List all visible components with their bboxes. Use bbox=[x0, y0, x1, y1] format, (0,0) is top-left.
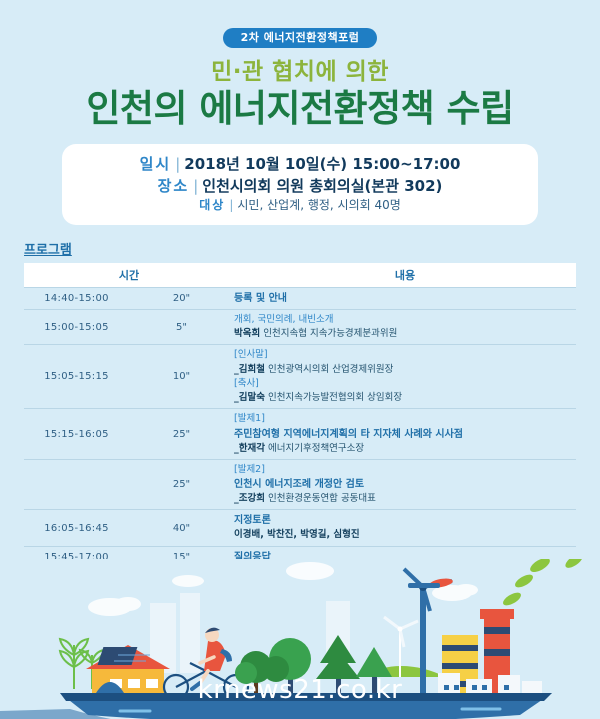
program-col-time: 시간 bbox=[24, 263, 234, 288]
speaker-affiliation: 에너지기후정책연구소장 bbox=[265, 443, 364, 454]
poster-title: 인천의 에너지전환정책 수립 bbox=[0, 89, 600, 130]
program-line-speaker: _김말숙 인천지속가능발전협의회 상임회장 bbox=[234, 391, 576, 405]
program-table: 시간 내용 14:40-15:0020"등록 및 안내15:00-15:055"… bbox=[24, 263, 576, 590]
program-section: 프로그램 시간 내용 14:40-15:0020"등록 및 안내15:00-15… bbox=[24, 239, 576, 590]
speaker-name: _김말숙 bbox=[234, 392, 265, 403]
info-row-audience: 대상|시민, 산업계, 행정, 시의회 40명 bbox=[62, 197, 538, 214]
program-line-headline: 인천시 에너지조례 개정안 검토 bbox=[234, 477, 576, 492]
program-row-duration: 20" bbox=[129, 287, 234, 309]
event-info-box: 일시|2018년 10월 10일(수) 15:00~17:00 장소|인천시의회… bbox=[62, 144, 538, 225]
info-row-datetime: 일시|2018년 10월 10일(수) 15:00~17:00 bbox=[62, 154, 538, 176]
program-row-content: 지정토론이경배, 박찬진, 박영길, 심형진 bbox=[234, 510, 576, 546]
program-row-time bbox=[24, 459, 129, 510]
info-value-venue: 인천시의회 의원 총회의실(본관 302) bbox=[202, 177, 442, 195]
program-row-content: [발제1]주민참여형 지역에너지계획의 타 지자체 사례와 시사점_한재각 에너… bbox=[234, 409, 576, 460]
program-row-time: 15:05-15:15 bbox=[24, 345, 129, 409]
program-row-content: 개회, 국민의례, 내빈소개박옥희 인천지속협 지속가능경제분과위원 bbox=[234, 309, 576, 345]
speaker-affiliation: 인천광역시의회 산업경제위원장 bbox=[265, 364, 393, 375]
program-table-body: 14:40-15:0020"등록 및 안내15:00-15:055"개회, 국민… bbox=[24, 287, 576, 589]
program-row-content: [발제2]인천시 에너지조례 개정안 검토_조강희 인천환경운동연합 공동대표 bbox=[234, 459, 576, 510]
speaker-name: 박옥희 bbox=[234, 328, 260, 339]
poster-root: 2차 에너지전환정책포럼 민·관 협치에 의한 인천의 에너지전환정책 수립 일… bbox=[0, 0, 600, 719]
program-line-speaker: _한재각 에너지기후정책연구소장 bbox=[234, 442, 576, 456]
program-row-time: 16:05-16:45 bbox=[24, 510, 129, 546]
program-line-headline: 등록 및 안내 bbox=[234, 291, 576, 306]
speaker-affiliation: 인천지속가능발전협의회 상임회장 bbox=[265, 392, 402, 403]
forum-badge: 2차 에너지전환정책포럼 bbox=[223, 28, 378, 48]
speaker-name: _김희철 bbox=[234, 364, 265, 375]
info-sep-2: | bbox=[229, 198, 233, 212]
poster-header: 2차 에너지전환정책포럼 민·관 협치에 의한 인천의 에너지전환정책 수립 bbox=[0, 0, 600, 130]
poster-subtitle: 민·관 협치에 의한 bbox=[0, 60, 600, 85]
ship-deck-line bbox=[60, 693, 552, 701]
program-header-row: 시간 내용 bbox=[24, 263, 576, 288]
speaker-affiliation: 인천환경운동연합 공동대표 bbox=[265, 493, 376, 504]
program-row-time: 15:15-16:05 bbox=[24, 409, 129, 460]
info-label-venue: 장소 bbox=[158, 177, 190, 195]
program-row-content: [인사말]_김희철 인천광역시의회 산업경제위원장[축사]_김말숙 인천지속가능… bbox=[234, 345, 576, 409]
program-line-headline: 지정토론 bbox=[234, 513, 576, 528]
program-row-duration: 40" bbox=[129, 510, 234, 546]
program-line-tag: 개회, 국민의례, 내빈소개 bbox=[234, 313, 576, 327]
speaker-affiliation: 인천지속협 지속가능경제분과위원 bbox=[260, 328, 397, 339]
program-col-content: 내용 bbox=[234, 263, 576, 288]
program-line-headline: 주민참여형 지역에너지계획의 타 지자체 사례와 시사점 bbox=[234, 427, 576, 442]
table-row: 25"[발제2]인천시 에너지조례 개정안 검토_조강희 인천환경운동연합 공동… bbox=[24, 459, 576, 510]
program-row-duration: 25" bbox=[129, 409, 234, 460]
program-table-head: 시간 내용 bbox=[24, 263, 576, 288]
info-value-datetime: 2018년 10월 10일(수) 15:00~17:00 bbox=[184, 155, 460, 173]
program-line-discussants: 이경배, 박찬진, 박영길, 심형진 bbox=[234, 528, 576, 542]
info-sep-1: | bbox=[193, 177, 198, 195]
program-line-speaker: _조강희 인천환경운동연합 공동대표 bbox=[234, 492, 576, 506]
speaker-name: _조강희 bbox=[234, 493, 265, 504]
program-row-duration: 25" bbox=[129, 459, 234, 510]
table-row: 15:05-15:1510"[인사말]_김희철 인천광역시의회 산업경제위원장[… bbox=[24, 345, 576, 409]
speaker-name: _한재각 bbox=[234, 443, 265, 454]
program-row-content: 등록 및 안내 bbox=[234, 287, 576, 309]
info-label-datetime: 일시 bbox=[140, 155, 172, 173]
info-sep-0: | bbox=[175, 155, 180, 173]
program-line-tag: [발제2] bbox=[234, 463, 576, 477]
program-line-speaker: 박옥희 인천지속협 지속가능경제분과위원 bbox=[234, 327, 576, 341]
program-line-tag: [축사] bbox=[234, 377, 576, 391]
program-row-duration: 5" bbox=[129, 309, 234, 345]
program-row-duration: 10" bbox=[129, 345, 234, 409]
table-row: 15:00-15:055"개회, 국민의례, 내빈소개박옥희 인천지속협 지속가… bbox=[24, 309, 576, 345]
info-row-venue: 장소|인천시의회 의원 총회의실(본관 302) bbox=[62, 176, 538, 198]
table-row: 16:05-16:4540"지정토론이경배, 박찬진, 박영길, 심형진 bbox=[24, 510, 576, 546]
program-heading: 프로그램 bbox=[24, 239, 576, 258]
eco-city-illustration bbox=[0, 559, 600, 719]
program-line-speaker: _김희철 인천광역시의회 산업경제위원장 bbox=[234, 363, 576, 377]
info-value-audience: 시민, 산업계, 행정, 시의회 40명 bbox=[237, 198, 400, 212]
program-line-tag: [인사말] bbox=[234, 348, 576, 362]
table-row: 14:40-15:0020"등록 및 안내 bbox=[24, 287, 576, 309]
table-row: 15:15-16:0525"[발제1]주민참여형 지역에너지계획의 타 지자체 … bbox=[24, 409, 576, 460]
program-row-time: 15:00-15:05 bbox=[24, 309, 129, 345]
program-line-tag: [발제1] bbox=[234, 412, 576, 426]
info-label-audience: 대상 bbox=[199, 198, 225, 212]
program-row-time: 14:40-15:00 bbox=[24, 287, 129, 309]
